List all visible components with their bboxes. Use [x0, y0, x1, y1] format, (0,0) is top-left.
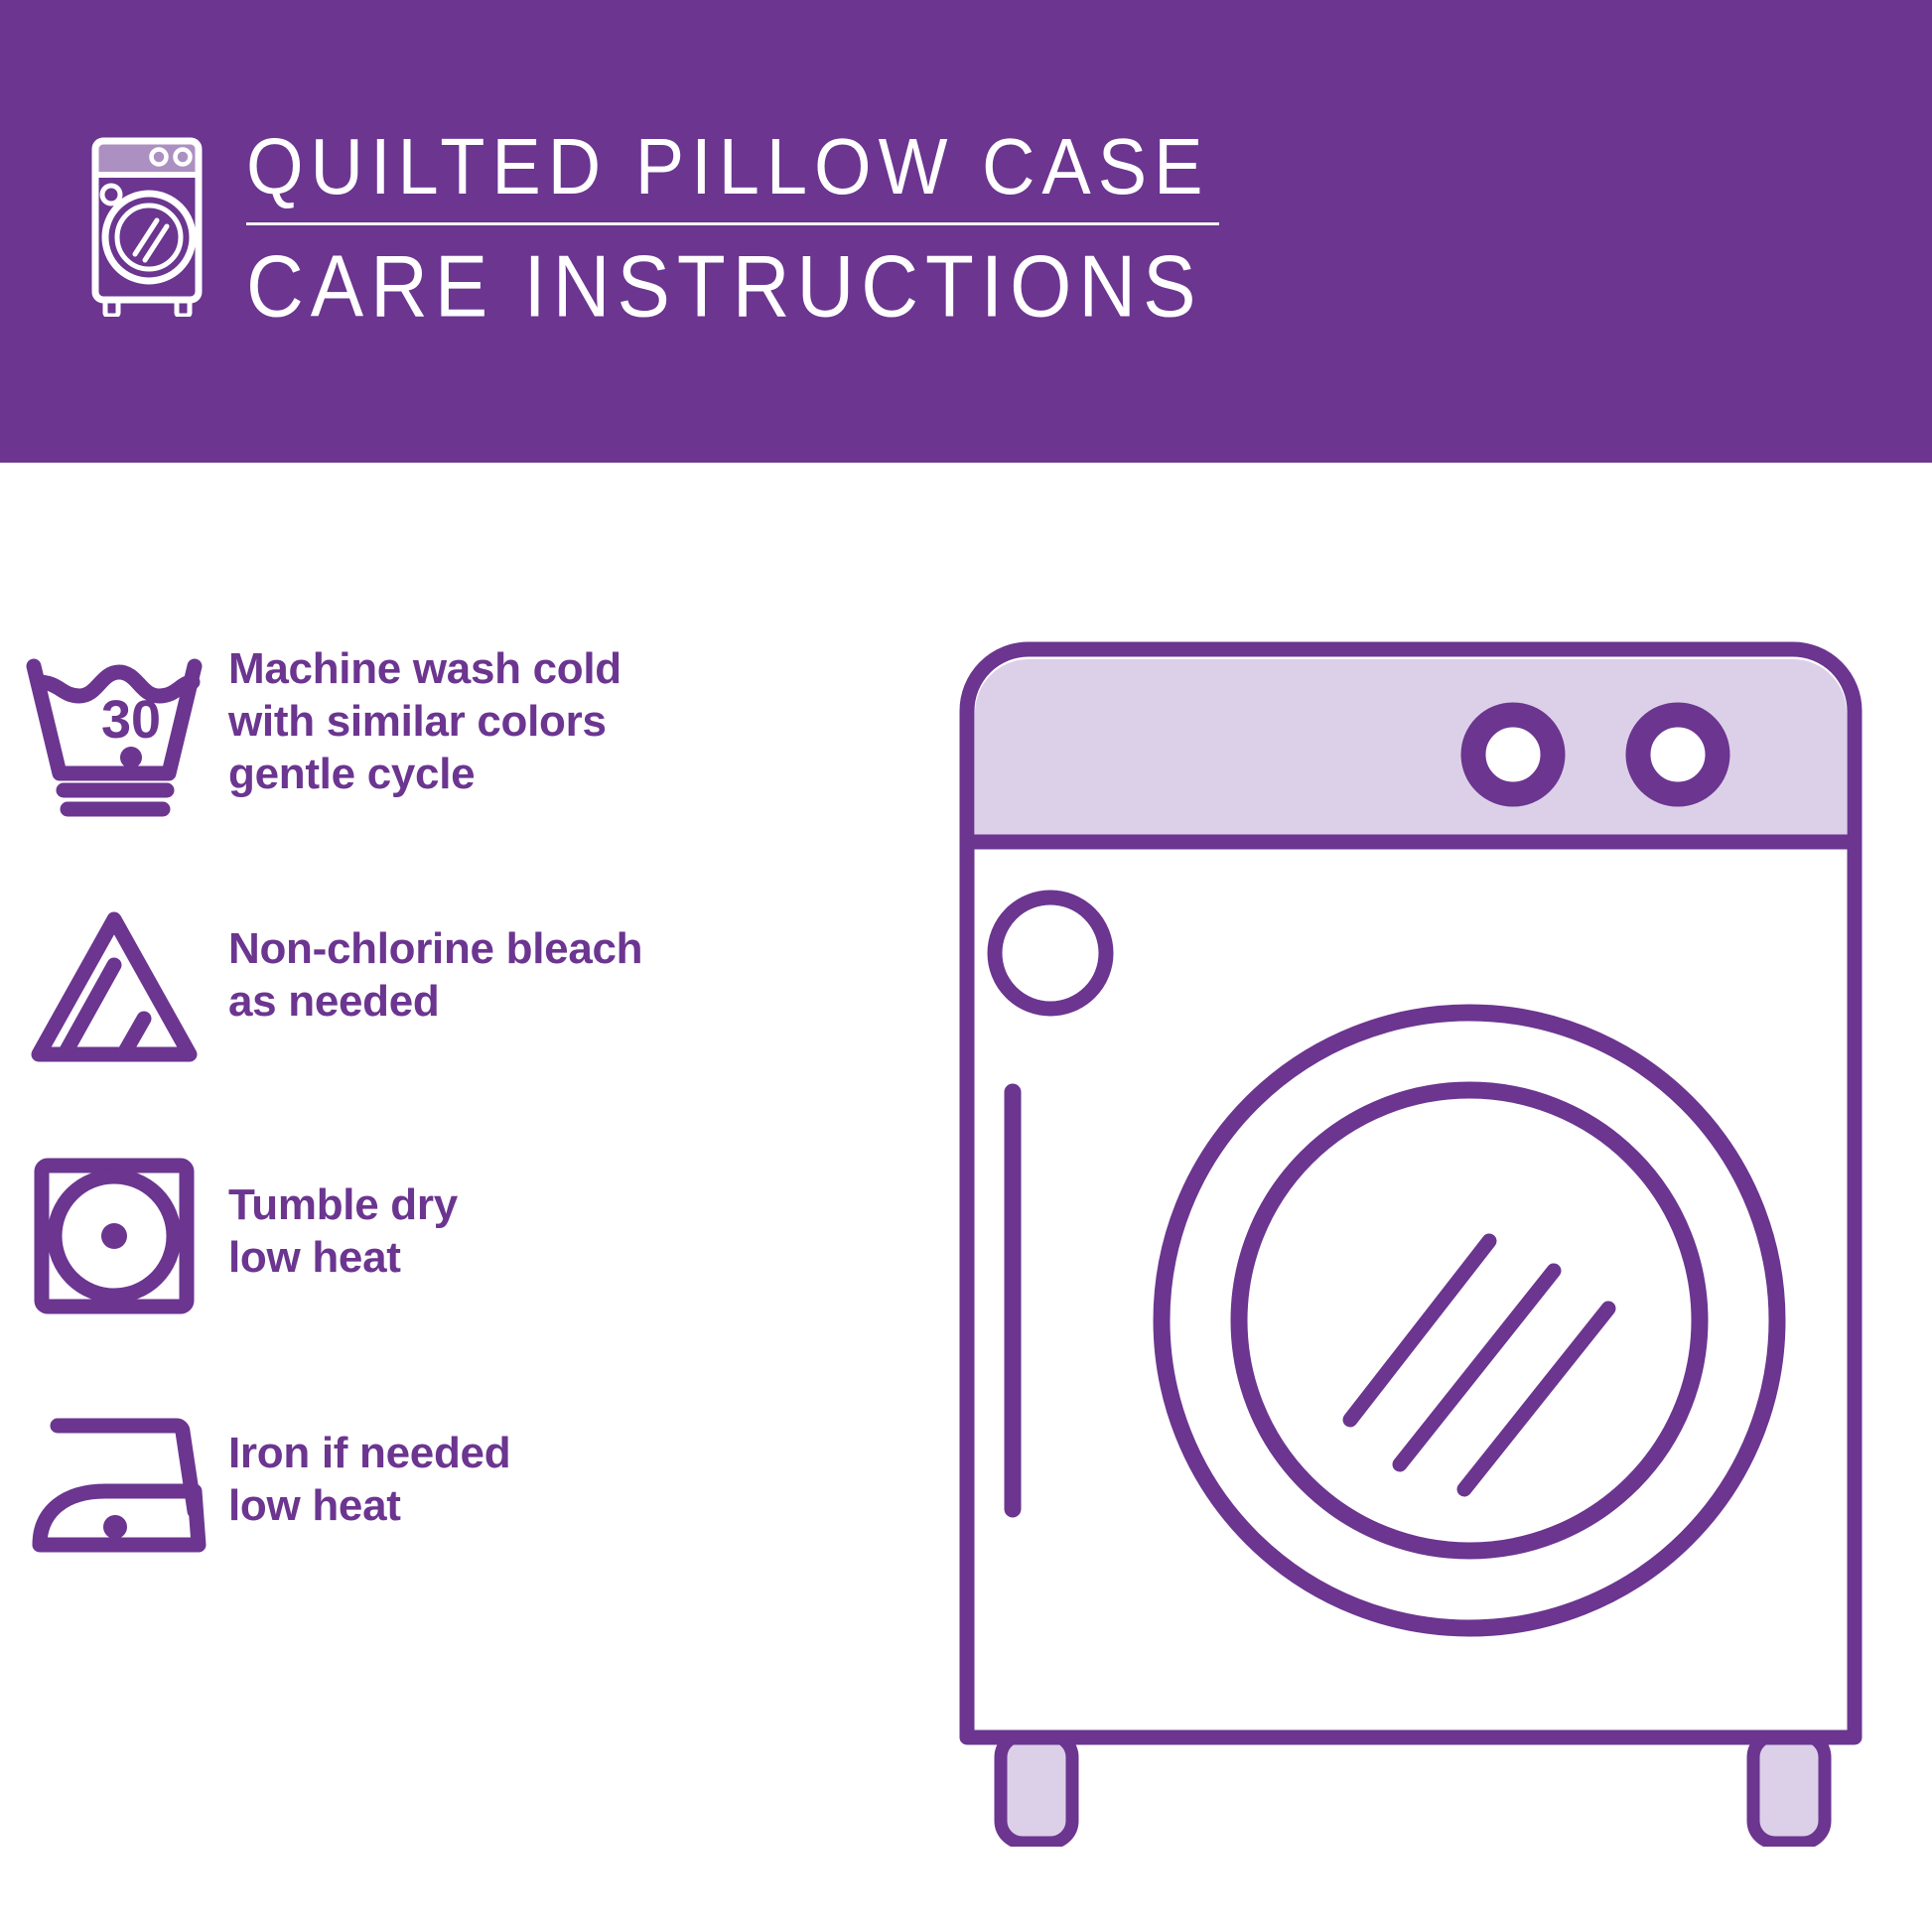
care-line: Non-chlorine bleach	[228, 923, 642, 976]
header-content: QUILTED PILLOW CASE CARE INSTRUCTIONS	[79, 127, 1219, 323]
care-instruction-list: 30 Machine wash cold with similar colors…	[0, 635, 923, 1628]
care-line: Machine wash cold	[228, 643, 621, 696]
header-banner: QUILTED PILLOW CASE CARE INSTRUCTIONS	[0, 0, 1932, 463]
care-row-wash: 30 Machine wash cold with similar colors…	[0, 635, 923, 884]
washer-knob-left	[1473, 715, 1553, 794]
tumble-dry-low-heat-icon	[0, 1132, 228, 1340]
non-chlorine-bleach-triangle-icon	[0, 884, 228, 1092]
page-subtitle: CARE INSTRUCTIONS	[246, 243, 1219, 331]
header-titles: QUILTED PILLOW CASE CARE INSTRUCTIONS	[246, 127, 1219, 323]
care-line: gentle cycle	[228, 749, 621, 801]
care-text-wash: Machine wash cold with similar colors ge…	[228, 635, 621, 800]
wash-temperature-label: 30	[101, 690, 161, 750]
washer-knob-right	[1638, 715, 1718, 794]
title-divider	[246, 222, 1219, 225]
care-line: Iron if needed	[228, 1428, 510, 1480]
washing-machine-icon	[79, 133, 218, 317]
care-row-iron: Iron if needed low heat	[0, 1380, 923, 1628]
page-title: QUILTED PILLOW CASE	[246, 127, 1219, 207]
care-line: low heat	[228, 1480, 510, 1533]
care-line: with similar colors	[228, 696, 621, 749]
care-line: low heat	[228, 1232, 458, 1285]
care-row-bleach: Non-chlorine bleach as needed	[0, 884, 923, 1132]
iron-low-heat-icon	[0, 1380, 228, 1588]
wash-tub-30-gentle-icon: 30	[0, 635, 228, 834]
care-text-bleach: Non-chlorine bleach as needed	[228, 884, 642, 1029]
care-line: as needed	[228, 976, 642, 1029]
care-row-tumble-dry: Tumble dry low heat	[0, 1132, 923, 1380]
care-line: Tumble dry	[228, 1179, 458, 1232]
care-text-tumble-dry: Tumble dry low heat	[228, 1132, 458, 1285]
washer-legs	[1001, 1735, 1825, 1843]
front-load-washing-machine-illustration	[953, 635, 1866, 1847]
care-text-iron: Iron if needed low heat	[228, 1380, 510, 1533]
